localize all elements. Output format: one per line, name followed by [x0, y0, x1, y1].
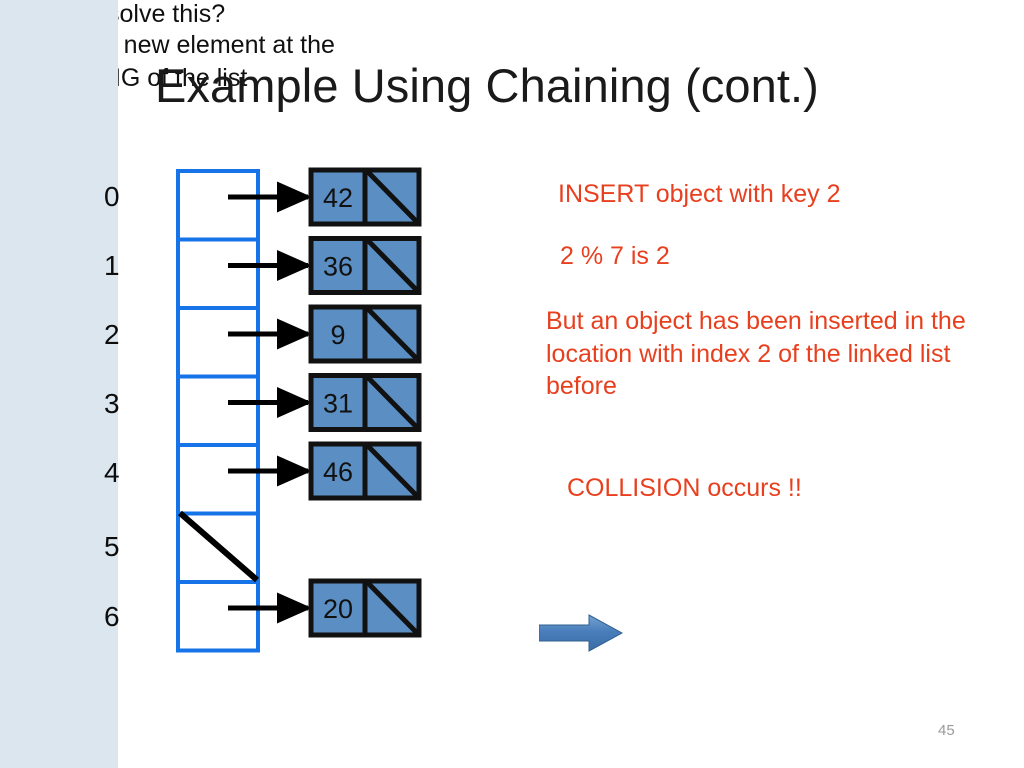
note-insert-key: INSERT object with key 2	[558, 178, 841, 211]
list-node-value-1: 36	[323, 252, 353, 282]
bucket-cell-3	[178, 377, 258, 446]
list-node-1: 36	[311, 239, 419, 293]
list-node-value-2: 9	[330, 320, 345, 350]
list-node-4: 46	[311, 444, 419, 498]
list-node-value-6: 20	[323, 594, 353, 624]
hash-table-svg: 42 36 9 31	[0, 0, 520, 768]
list-node-2: 9	[311, 307, 419, 361]
list-node-3: 31	[311, 376, 419, 430]
hash-table-diagram: 0 1 2 3 4 5 6	[0, 0, 520, 768]
list-node-value-4: 46	[323, 457, 353, 487]
list-node-6: 20	[311, 581, 419, 635]
page-number: 45	[938, 722, 955, 739]
note-collision: COLLISION occurs !!	[567, 472, 802, 505]
bucket-cell-6	[178, 582, 258, 651]
bucket-cell-0	[178, 171, 258, 240]
list-node-value-0: 42	[323, 183, 353, 213]
bucket-cell-2	[178, 308, 258, 377]
list-node-value-3: 31	[323, 389, 353, 419]
note-modulo: 2 % 7 is 2	[560, 240, 670, 273]
bucket-cell-1	[178, 240, 258, 309]
bucket-array	[178, 171, 258, 651]
right-arrow-icon	[539, 614, 623, 652]
list-node-0: 42	[311, 170, 419, 224]
bucket-cell-4	[178, 445, 258, 514]
slide-canvas: Example Using Chaining (cont.) 0 1 2 3 4…	[0, 0, 1024, 768]
note-explanation: But an object has been inserted in the l…	[546, 305, 1021, 403]
